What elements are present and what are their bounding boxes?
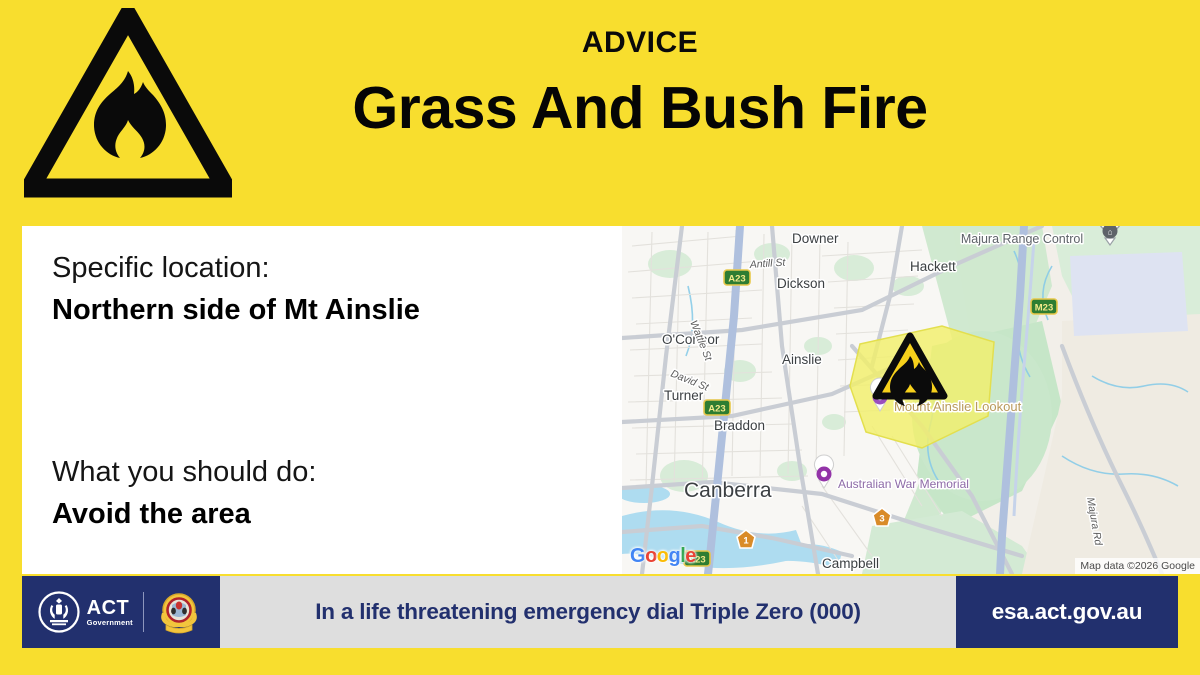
alert-level-label: ADVICE (240, 26, 1040, 59)
map-route-shield[interactable]: A23 (724, 270, 750, 285)
what-you-should-do-block: What you should do: Avoid the area (52, 454, 316, 533)
footer-bar: ACT Government In a life threatening eme… (22, 576, 1178, 648)
map-suburb-label: O'Connor (662, 332, 720, 347)
act-logo-text: ACT (87, 598, 133, 618)
map-route-shield[interactable]: M23 (1031, 299, 1057, 314)
map-attribution: Map data ©2026 Google (1075, 558, 1200, 574)
svg-text:M23: M23 (1035, 303, 1053, 314)
map-suburb-label: Hackett (910, 259, 956, 274)
header-text-group: ADVICE Grass And Bush Fire (240, 26, 1040, 141)
alert-title: Grass And Bush Fire (240, 75, 1040, 141)
svg-text:⌂: ⌂ (1108, 228, 1113, 237)
map-canvas[interactable]: DownerHackettDicksonO'ConnorAinslieTurne… (622, 226, 1200, 574)
act-government-logo: ACT Government (38, 591, 133, 633)
information-panel: Specific location: Northern side of Mt A… (22, 226, 600, 574)
emergency-message-strip: In a life threatening emergency dial Tri… (220, 576, 956, 648)
specific-location-block: Specific location: Northern side of Mt A… (52, 250, 420, 329)
fire-warning-triangle-icon (24, 8, 232, 198)
map-suburb-label: Campbell (822, 556, 879, 571)
map-suburb-label: Ainslie (782, 352, 822, 367)
svg-text:1: 1 (743, 536, 749, 547)
logo-divider (143, 592, 145, 632)
website-button[interactable]: esa.act.gov.au (956, 576, 1178, 648)
esa-emblem-icon (154, 589, 204, 635)
map-suburb-label: Dickson (777, 276, 825, 291)
map-route-shield[interactable]: A23 (704, 400, 730, 415)
map-suburb-label: Downer (792, 231, 839, 246)
map-poi-label: Australian War Memorial (838, 477, 969, 491)
alert-header: ADVICE Grass And Bush Fire (0, 0, 1200, 222)
act-coat-of-arms-icon (38, 591, 80, 633)
map-poi-label: Mount Ainslie Lookout (894, 399, 1022, 414)
emergency-message: In a life threatening emergency dial Tri… (315, 599, 861, 625)
google-logo: Google (630, 545, 696, 568)
map-poi-label: Majura Range Control (961, 232, 1083, 246)
act-logo-subtext: Government (87, 619, 133, 627)
agency-logo-bar: ACT Government (22, 576, 220, 648)
website-url: esa.act.gov.au (992, 599, 1143, 625)
what-you-should-do-value: Avoid the area (52, 496, 316, 532)
map-suburb-label: Braddon (714, 418, 765, 433)
svg-text:3: 3 (879, 514, 884, 525)
svg-text:A23: A23 (708, 404, 725, 415)
specific-location-label: Specific location: (52, 250, 420, 286)
map-suburb-label: Canberra (684, 479, 772, 502)
content-panel: Specific location: Northern side of Mt A… (22, 226, 1178, 574)
what-you-should-do-label: What you should do: (52, 454, 316, 490)
svg-text:A23: A23 (728, 274, 745, 285)
specific-location-value: Northern side of Mt Ainslie (52, 292, 420, 328)
incident-map[interactable]: DownerHackettDicksonO'ConnorAinslieTurne… (622, 226, 1200, 574)
